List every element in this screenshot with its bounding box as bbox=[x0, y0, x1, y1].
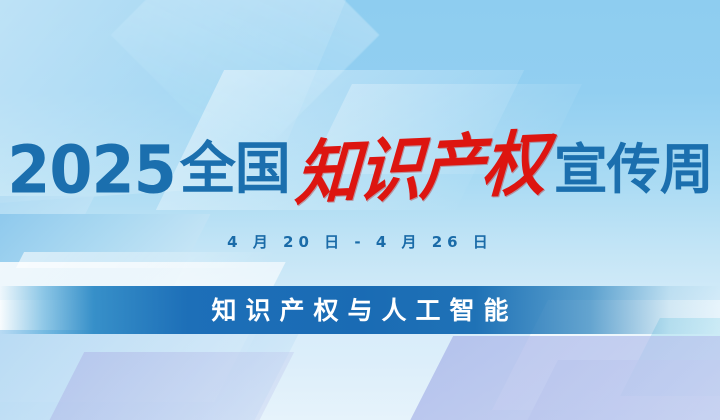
ip-week-poster: 2025 全国 知识产权 宣传周 4 月 20 日 - 4 月 26 日 知识产… bbox=[0, 0, 720, 420]
title-national: 全国 bbox=[180, 142, 290, 198]
parallelogram-periwinkle-large bbox=[387, 336, 720, 420]
slogan-banner: 知识产权与人工智能 bbox=[0, 286, 720, 334]
poster-title: 2025 全国 知识产权 宣传周 bbox=[0, 128, 720, 212]
parallelogram-periwinkle-small bbox=[36, 352, 294, 420]
parallelogram-periwinkle-large-2 bbox=[502, 360, 720, 420]
title-highlight-calligraphy: 知识产权 bbox=[293, 129, 546, 210]
white-streak-upper bbox=[16, 252, 274, 268]
title-year: 2025 bbox=[7, 137, 176, 203]
parallelogram-blue-bottom-left bbox=[0, 330, 301, 420]
date-range: 4 月 20 日 - 4 月 26 日 bbox=[0, 231, 720, 252]
title-week: 宣传周 bbox=[554, 143, 713, 197]
slogan-text: 知识产权与人工智能 bbox=[202, 298, 517, 323]
